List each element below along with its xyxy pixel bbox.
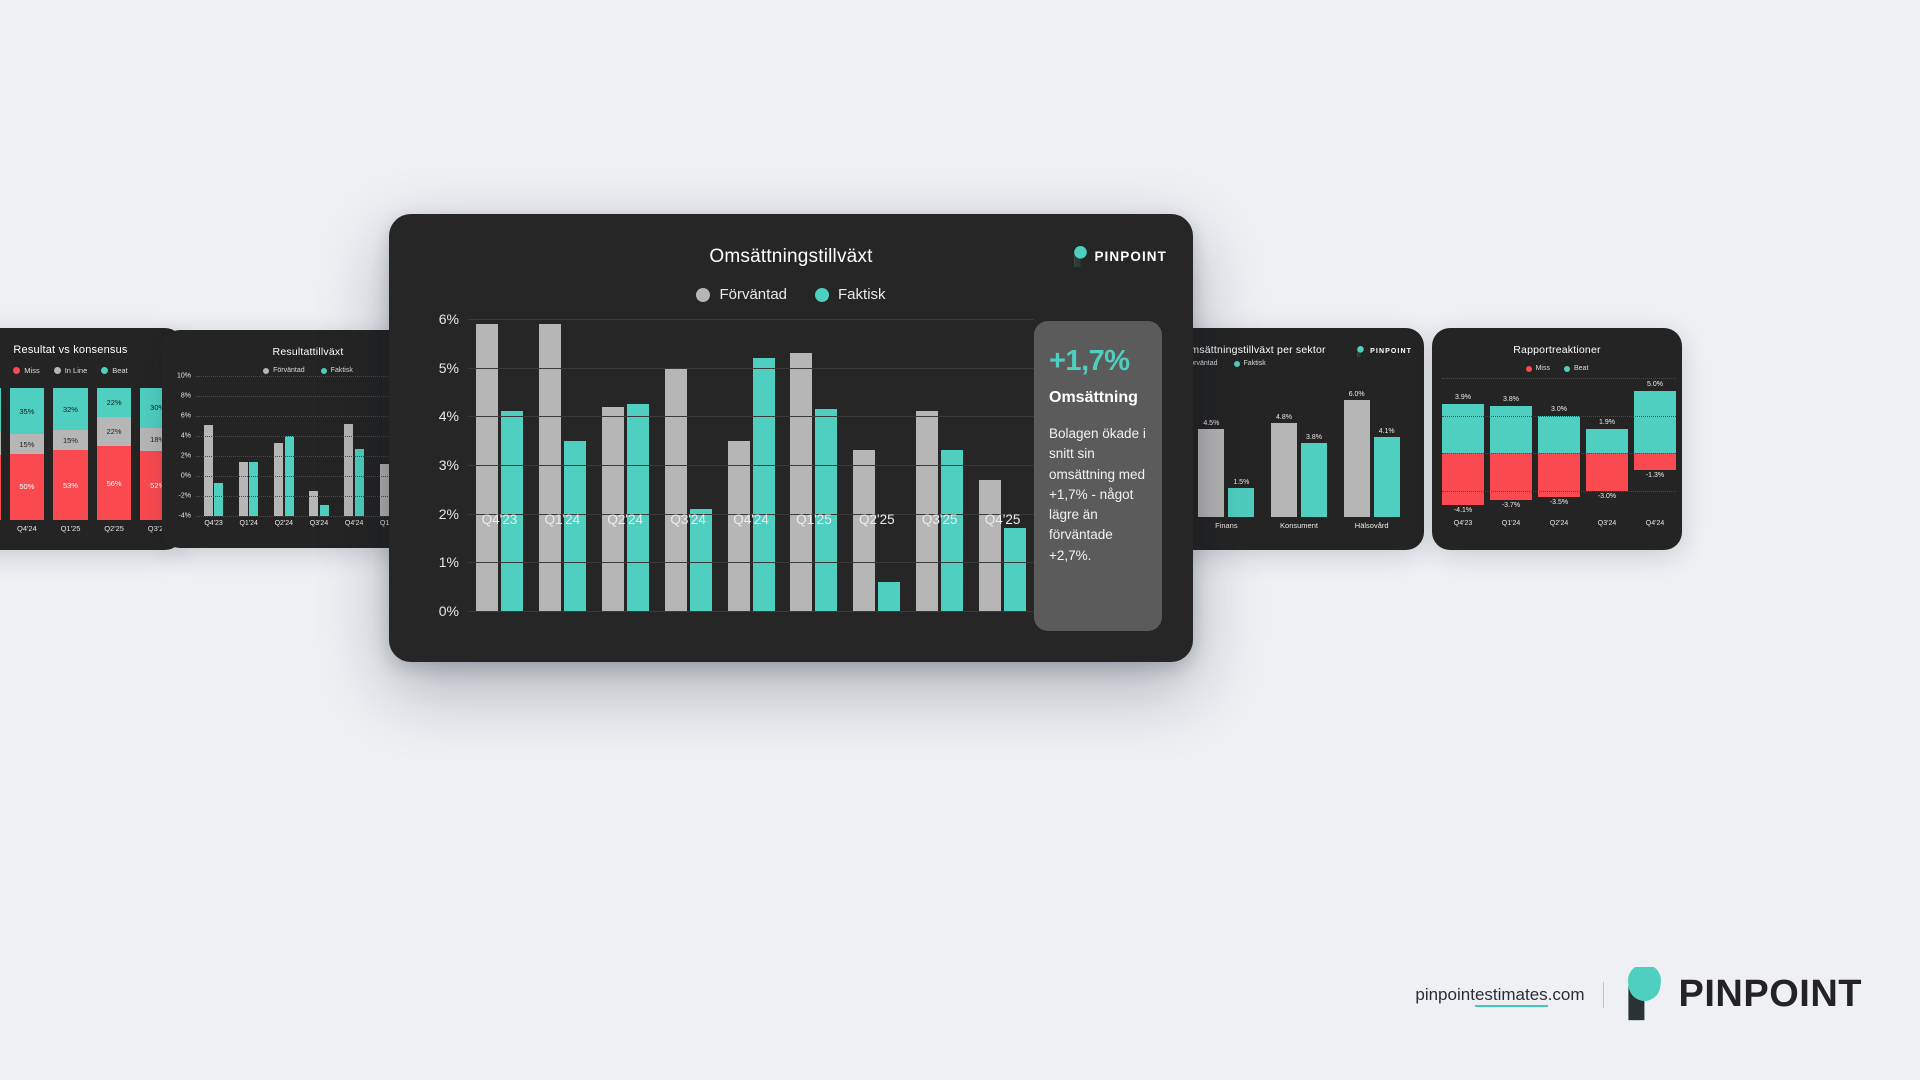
plot-konsensus: 33%18%49%35%15%50%32%15%53%22%22%56%30%1…	[0, 388, 175, 520]
bar-value-label-miss: -3.7%	[1502, 502, 1520, 509]
bar-förväntad[interactable]	[380, 464, 389, 516]
legend-dot-miss-reaktioner	[1526, 366, 1532, 372]
x-axis-tick-label: Q2'24	[594, 512, 657, 527]
bar-value-label-miss: -4.1%	[1454, 507, 1472, 514]
plot-main-chart: 0%1%2%3%4%5%6%	[468, 319, 1034, 611]
y-axis-tick-label: 10%	[177, 373, 196, 380]
gridline	[468, 416, 1034, 417]
gridline	[468, 319, 1034, 320]
x-axis-labels-reaktioner: Q4'23Q1'24Q2'24Q3'24Q4'24	[1442, 520, 1676, 527]
footer-pinpoint-logo: PINPOINT	[1622, 967, 1862, 1022]
x-axis-tick-label: Q3'24	[657, 512, 720, 527]
bar-förväntad[interactable]: 4.8%	[1271, 423, 1297, 517]
x-axis-tick-label: Q3'25	[908, 512, 971, 527]
x-axis-tick-label: Q3'24	[1586, 520, 1628, 527]
bars-reaktioner: 3.9%-4.1%3.8%-3.7%3.0%-3.5%1.9%-3.0%5.0%…	[1442, 378, 1676, 516]
url-part-1: pinpoint	[1415, 985, 1475, 1004]
pinpoint-logo-main: PINPOINT	[1072, 246, 1167, 267]
legend-reaktioner: Miss Beat	[1432, 365, 1682, 372]
url-part-3: .com	[1548, 985, 1585, 1004]
pinpoint-p-icon-footer	[1622, 967, 1666, 1022]
bar-faktisk[interactable]: 4.1%	[1374, 437, 1400, 517]
bar-value-label: 3.8%	[1306, 434, 1322, 441]
y-axis-tick-label: 2%	[181, 453, 196, 460]
y-axis-tick-label: 1%	[439, 554, 468, 570]
footer-divider	[1603, 982, 1604, 1008]
bar-förväntad[interactable]	[790, 353, 812, 611]
bar-faktisk[interactable]	[627, 404, 649, 611]
legend-dot-forvantad-main	[696, 288, 710, 302]
diverging-bar[interactable]: 3.8%-3.7%	[1490, 378, 1532, 516]
legend-item-in-line: In Line	[54, 366, 88, 375]
x-axis-tick-label: Konsument	[1263, 521, 1336, 530]
plot-reaktioner: 3.9%-4.1%3.8%-3.7%3.0%-3.5%1.9%-3.0%5.0%…	[1442, 378, 1676, 516]
y-axis-tick-label: -2%	[179, 493, 196, 500]
bar-faktisk[interactable]	[1004, 528, 1026, 611]
legend-item-faktisk: Faktisk	[321, 367, 353, 374]
stack-segment-beat: 32%	[53, 388, 88, 430]
bar-faktisk[interactable]: 3.8%	[1301, 443, 1327, 517]
bar-förväntad[interactable]	[309, 491, 318, 516]
pinpoint-p-icon	[1356, 346, 1365, 357]
bar-beat[interactable]	[1538, 416, 1580, 454]
stack-segment-miss: 49%	[0, 455, 1, 520]
card-rapportreaktioner[interactable]: Rapportreaktioner Miss Beat 3.9%-4.1%3.8…	[1432, 328, 1682, 550]
card-title-sektor: Omsättningstillväxt per sektor	[1182, 344, 1326, 356]
gridline	[468, 368, 1034, 369]
legend-dot-faktisk-sektor	[1234, 361, 1240, 367]
x-axis-tick-label: Q2'24	[0, 524, 1, 533]
legend-dot-forvantad	[263, 368, 269, 374]
bar-group	[301, 376, 336, 516]
bar-group	[231, 376, 266, 516]
x-axis-tick-label: Q2'24	[1538, 520, 1580, 527]
legend-dot-beat	[101, 367, 108, 374]
x-axis-labels-sektor: FinansKonsumentHälsovård	[1190, 521, 1408, 530]
y-axis-tick-label: 0%	[439, 603, 468, 619]
bar-beat[interactable]	[1634, 391, 1676, 454]
bar-faktisk[interactable]	[355, 449, 364, 516]
pinpoint-wordmark-main: PINPOINT	[1094, 249, 1167, 264]
bar-förväntad[interactable]: 6.0%	[1344, 400, 1370, 517]
bar-faktisk[interactable]: 1.5%	[1228, 488, 1254, 517]
bar-group: 4.5%1.5%	[1190, 380, 1263, 517]
legend-item-miss-reaktioner: Miss	[1526, 365, 1550, 372]
legend-item-faktisk-main[interactable]: Faktisk	[815, 286, 886, 303]
bar-value-label-miss: -3.5%	[1550, 499, 1568, 506]
legend-item-beat-reaktioner: Beat	[1564, 365, 1588, 372]
bar-förväntad[interactable]	[665, 368, 687, 611]
x-axis-tick-label: Q4'24	[10, 524, 45, 533]
bar-value-label: 4.8%	[1276, 414, 1292, 421]
bar-value-label: 4.5%	[1203, 420, 1219, 427]
stack-segment-miss: 56%	[97, 446, 132, 520]
legend-dot-faktisk-main	[815, 288, 829, 302]
stack-segment-beat: 33%	[0, 388, 1, 432]
bar-group	[266, 376, 301, 516]
stack-segment-inline: 15%	[10, 434, 45, 454]
bar-value-label-beat: 3.0%	[1551, 406, 1567, 413]
x-axis-tick-label: Q1'25	[782, 512, 845, 527]
x-axis-tick-label: Q2'25	[97, 524, 132, 533]
x-axis-tick-label: Q4'25	[971, 512, 1034, 527]
bar-förväntad[interactable]	[274, 443, 283, 516]
bar-beat[interactable]	[1586, 429, 1628, 453]
gridline	[468, 562, 1034, 563]
x-axis-tick-label: Q3'24	[301, 520, 336, 527]
bar-faktisk[interactable]	[753, 358, 775, 611]
bars-sektor: 4.5%1.5%4.8%3.8%6.0%4.1%	[1190, 380, 1408, 517]
card-title-konsensus: Resultat vs konsensus	[0, 344, 183, 356]
bar-value-label-beat: 1.9%	[1599, 419, 1615, 426]
legend-konsensus: Miss In Line Beat	[0, 366, 183, 375]
x-axis-tick-label: Q4'24	[1634, 520, 1676, 527]
legend-label-faktisk-main: Faktisk	[838, 286, 886, 303]
legend-item-beat: Beat	[101, 366, 127, 375]
bar-value-label: 6.0%	[1349, 391, 1365, 398]
stacked-bar[interactable]: 22%22%56%	[97, 388, 132, 520]
bar-value-label: 4.1%	[1379, 428, 1395, 435]
bar-value-label-miss: -3.0%	[1598, 493, 1616, 500]
stack-segment-miss: 50%	[10, 454, 45, 520]
bar-beat[interactable]	[1442, 404, 1484, 453]
legend-item-forvantad-main[interactable]: Förväntad	[696, 286, 787, 303]
x-axis-tick-label: Finans	[1190, 521, 1263, 530]
x-axis-tick-label: Q4'23	[468, 512, 531, 527]
footer: pinpointestimates.com PINPOINT	[1415, 967, 1862, 1022]
diverging-bar[interactable]: 3.0%-3.5%	[1538, 378, 1580, 516]
bar-group: 4.8%3.8%	[1263, 380, 1336, 517]
stacked-bar[interactable]: 35%15%50%	[10, 388, 45, 520]
x-axis-tick-label: Q1'24	[531, 512, 594, 527]
bar-faktisk[interactable]	[249, 462, 258, 516]
pinpoint-wordmark-sektor: PINPOINT	[1370, 348, 1412, 355]
legend-label-in-line: In Line	[65, 366, 88, 375]
x-axis-tick-label: Q4'23	[196, 520, 231, 527]
legend-label-forvantad-main: Förväntad	[719, 286, 787, 303]
legend-dot-faktisk	[321, 368, 327, 374]
x-axis-tick-label: Hälsovård	[1335, 521, 1408, 530]
diverging-bar[interactable]: 1.9%-3.0%	[1586, 378, 1628, 516]
main-chart-card[interactable]: Omsättningstillväxt PINPOINT Förväntad F…	[389, 214, 1193, 662]
card-omsattning-per-sektor[interactable]: Omsättningstillväxt per sektor PINPOINT …	[1168, 328, 1424, 550]
footer-wordmark: PINPOINT	[1679, 973, 1862, 1016]
bar-förväntad[interactable]	[853, 450, 875, 611]
y-axis-tick-label: 5%	[439, 360, 468, 376]
legend-label-forvantad: Förväntad	[273, 367, 305, 374]
bar-group: 6.0%4.1%	[1335, 380, 1408, 517]
gridline	[468, 611, 1034, 612]
legend-label-miss-reaktioner: Miss	[1536, 365, 1550, 372]
summary-description: Bolagen ökade i snitt sin omsättning med…	[1049, 424, 1147, 566]
legend-item-miss: Miss	[13, 366, 39, 375]
stack-segment-beat: 35%	[10, 388, 45, 434]
y-axis-tick-label: 4%	[439, 408, 468, 424]
y-axis-tick-label: 2%	[439, 506, 468, 522]
y-axis-tick-label: 6%	[181, 413, 196, 420]
legend-dot-beat-reaktioner	[1564, 366, 1570, 372]
legend-main-chart: Förväntad Faktisk	[389, 286, 1193, 303]
y-axis-tick-label: -4%	[179, 513, 196, 520]
stack-segment-inline: 18%	[0, 432, 1, 456]
legend-item-forvantad: Förväntad	[263, 367, 305, 374]
card-title-reaktioner: Rapportreaktioner	[1432, 344, 1682, 356]
stacked-bar[interactable]: 33%18%49%	[0, 388, 1, 520]
legend-dot-in-line	[54, 367, 61, 374]
bar-value-label-beat: 3.9%	[1455, 394, 1471, 401]
diverging-bar[interactable]: 3.9%-4.1%	[1442, 378, 1484, 516]
y-axis-tick-label: 4%	[181, 433, 196, 440]
bar-miss[interactable]	[1634, 453, 1676, 469]
bar-miss[interactable]	[1490, 453, 1532, 499]
x-axis-tick-label: Q4'24	[337, 520, 372, 527]
x-axis-labels-main-chart: Q4'23Q1'24Q2'24Q3'24Q4'24Q1'25Q2'25Q3'25…	[468, 512, 1034, 527]
summary-value: +1,7%	[1049, 345, 1147, 378]
x-axis-tick-label: Q1'25	[53, 524, 88, 533]
bar-value-label-miss: -1.3%	[1646, 472, 1664, 479]
gridline	[1442, 453, 1676, 454]
gridline	[1442, 378, 1676, 379]
x-axis-tick-label: Q1'24	[231, 520, 266, 527]
bar-group	[196, 376, 231, 516]
bar-förväntad[interactable]	[239, 462, 248, 516]
stacked-bar[interactable]: 32%15%53%	[53, 388, 88, 520]
gridline	[1442, 416, 1676, 417]
stack-segment-inline: 22%	[97, 417, 132, 446]
bar-förväntad[interactable]	[204, 425, 213, 516]
bar-förväntad[interactable]: 4.5%	[1198, 429, 1224, 517]
url-part-2-underlined: estimates	[1475, 985, 1548, 1007]
pinpoint-p-icon-main	[1072, 246, 1089, 267]
bar-faktisk[interactable]	[941, 450, 963, 611]
y-axis-tick-label: 8%	[181, 393, 196, 400]
y-axis-tick-label: 0%	[181, 473, 196, 480]
presentation-stage: Resultat vs konsensus Miss In Line Beat …	[0, 0, 1920, 1080]
bar-beat[interactable]	[1490, 406, 1532, 454]
legend-label-miss: Miss	[24, 366, 39, 375]
bar-faktisk[interactable]	[878, 582, 900, 611]
x-axis-labels-konsensus: Q2'24Q4'24Q1'25Q2'25Q3'25	[0, 524, 175, 533]
stack-segment-beat: 22%	[97, 388, 132, 417]
stack-segment-miss: 53%	[53, 450, 88, 520]
diverging-bar[interactable]: 5.0%-1.3%	[1634, 378, 1676, 516]
plot-sektor: 4.5%1.5%4.8%3.8%6.0%4.1%	[1190, 380, 1408, 517]
x-axis-tick-label: Q4'23	[1442, 520, 1484, 527]
x-axis-tick-label: Q2'25	[845, 512, 908, 527]
bar-value-label-beat: 5.0%	[1647, 381, 1663, 388]
legend-label-faktisk-sektor: Faktisk	[1244, 360, 1266, 367]
bar-förväntad[interactable]	[979, 480, 1001, 611]
bar-faktisk[interactable]	[320, 505, 329, 516]
y-axis-tick-label: 3%	[439, 457, 468, 473]
bar-miss[interactable]	[1586, 453, 1628, 491]
bar-group	[337, 376, 372, 516]
legend-label-faktisk: Faktisk	[331, 367, 353, 374]
x-axis-tick-label: Q4'24	[720, 512, 783, 527]
x-axis-tick-label: Q1'24	[1490, 520, 1532, 527]
legend-label-beat-reaktioner: Beat	[1574, 365, 1588, 372]
gridline	[1442, 491, 1676, 492]
bar-faktisk[interactable]	[214, 483, 223, 516]
bar-förväntad[interactable]	[602, 407, 624, 611]
summary-info-panel: +1,7% Omsättning Bolagen ökade i snitt s…	[1034, 321, 1162, 631]
summary-label: Omsättning	[1049, 389, 1147, 407]
y-axis-tick-label: 6%	[439, 311, 468, 327]
legend-item-faktisk-sektor: Faktisk	[1234, 360, 1266, 367]
x-axis-tick-label: Q2'24	[266, 520, 301, 527]
gridline	[468, 465, 1034, 466]
footer-website-url[interactable]: pinpointestimates.com	[1415, 985, 1584, 1005]
stack-segment-inline: 15%	[53, 430, 88, 450]
legend-dot-miss	[13, 367, 20, 374]
bar-förväntad[interactable]	[344, 424, 353, 516]
legend-label-beat: Beat	[112, 366, 127, 375]
stacked-bars-konsensus: 33%18%49%35%15%50%32%15%53%22%22%56%30%1…	[0, 388, 175, 520]
bar-miss[interactable]	[1442, 453, 1484, 504]
bar-value-label: 1.5%	[1233, 479, 1249, 486]
pinpoint-logo-sektor: PINPOINT	[1356, 346, 1412, 357]
bar-faktisk[interactable]	[815, 409, 837, 611]
card-resultat-vs-konsensus[interactable]: Resultat vs konsensus Miss In Line Beat …	[0, 328, 183, 550]
bar-value-label-beat: 3.8%	[1503, 396, 1519, 403]
